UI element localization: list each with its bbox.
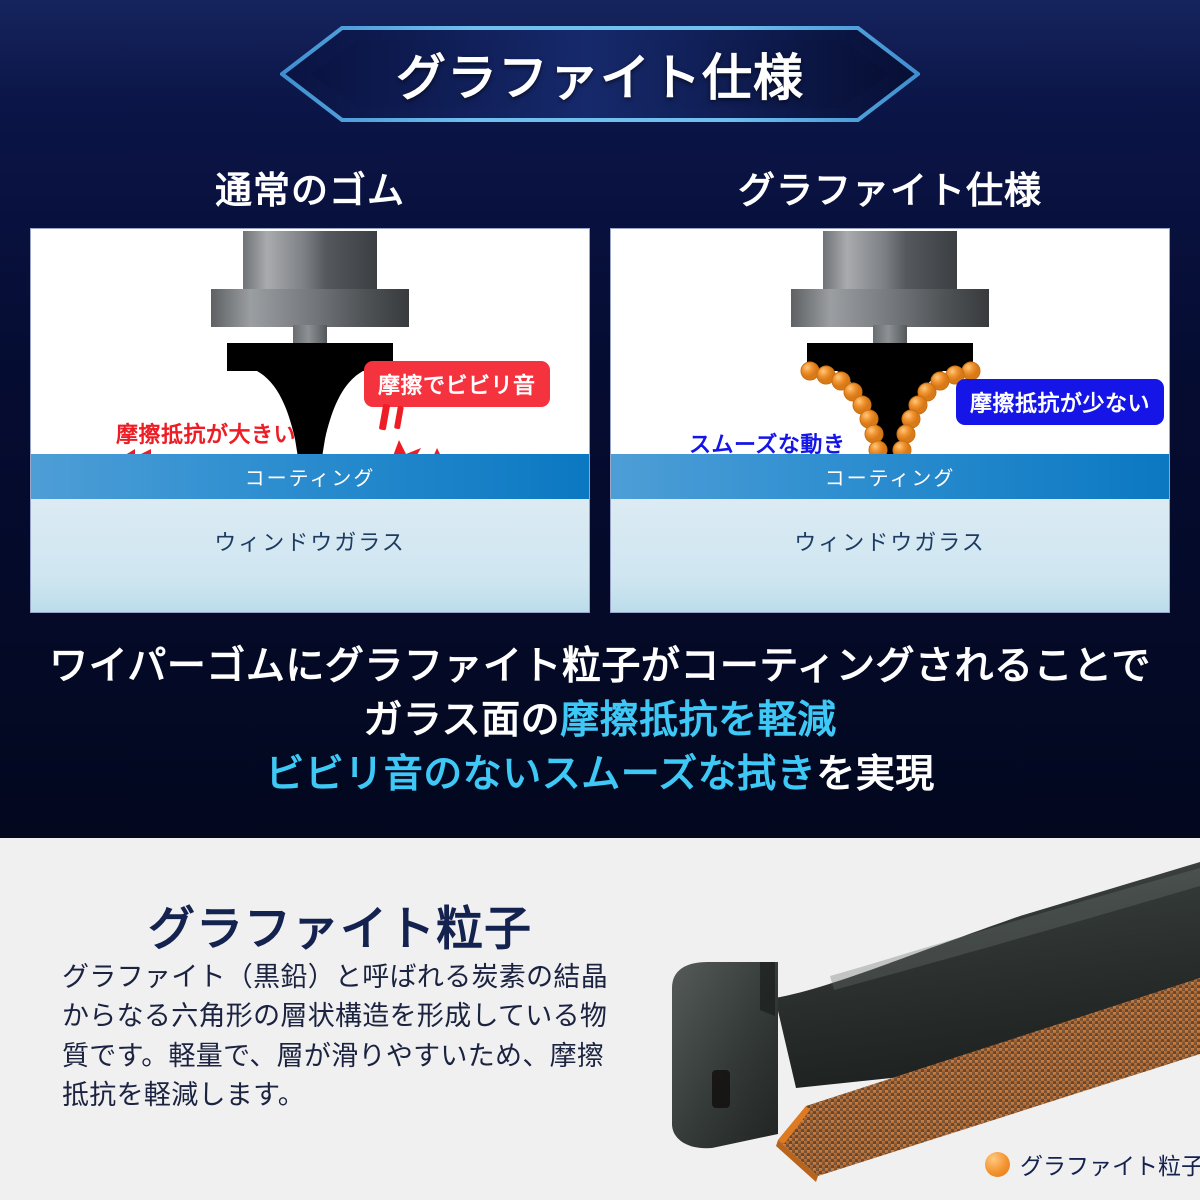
summary-line-2: ガラス面の摩擦抵抗を軽減 bbox=[0, 694, 1200, 748]
summary-line-3-post: を実現 bbox=[816, 753, 935, 796]
top-section: グラファイト仕様 通常のゴム グラファイト仕様 bbox=[0, 0, 1200, 838]
infographic-root: グラファイト仕様 通常のゴム グラファイト仕様 bbox=[0, 0, 1200, 1200]
graphite-legend-label: グラファイト粒子 bbox=[1020, 1147, 1200, 1181]
graphite-legend: グラファイト粒子 bbox=[985, 1147, 1200, 1181]
friction-noise-badge: 摩擦でビビリ音 bbox=[364, 361, 550, 407]
coating-layer-label-right: コーティング bbox=[611, 454, 1169, 499]
summary-line-2-highlight: 摩擦抵抗を軽減 bbox=[560, 699, 837, 742]
graphite-section-title: グラファイト粒子 bbox=[148, 890, 532, 959]
high-friction-label: 摩擦抵抗が大きい bbox=[116, 417, 296, 449]
diagram-panel-normal: 摩擦でビビリ音 摩擦抵抗が大きい bbox=[30, 228, 590, 613]
glass-layer-label-right: ウィンドウガラス bbox=[611, 499, 1169, 612]
glass-layer-label-left: ウィンドウガラス bbox=[31, 499, 589, 612]
summary-line-1: ワイパーゴムにグラファイト粒子がコーティングされることで bbox=[0, 640, 1200, 694]
summary-line-2-pre: ガラス面の bbox=[363, 699, 560, 742]
graphite-legend-dot-icon bbox=[985, 1152, 1010, 1177]
graphite-section-body: グラファイト（黒鉛）と呼ばれる炭素の結晶からなる六角形の層状構造を形成している物… bbox=[62, 958, 628, 1116]
banner-title: グラファイト仕様 bbox=[280, 24, 920, 124]
low-friction-badge: 摩擦抵抗が少ない bbox=[956, 379, 1164, 425]
coating-layer-label-left: コーティング bbox=[31, 454, 589, 499]
panel-heading-graphite: グラファイト仕様 bbox=[610, 160, 1170, 214]
summary-line-3: ビビリ音のないスムーズな拭きを実現 bbox=[0, 748, 1200, 802]
wiper-blade-photo-icon bbox=[600, 838, 1200, 1200]
summary-line-3-highlight-2: スムーズな拭き bbox=[542, 753, 817, 796]
panel-heading-normal: 通常のゴム bbox=[30, 160, 590, 214]
summary-line-3-highlight-1: ビビリ音のない bbox=[265, 753, 542, 796]
summary-message: ワイパーゴムにグラファイト粒子がコーティングされることで ガラス面の摩擦抵抗を軽… bbox=[0, 640, 1200, 801]
title-banner: グラファイト仕様 bbox=[280, 24, 920, 124]
bottom-section: グラファイト粒子 グラファイト（黒鉛）と呼ばれる炭素の結晶からなる六角形の層状構… bbox=[0, 838, 1200, 1200]
diagram-panel-graphite: 摩擦抵抗が少ない スムーズな動き グラファイト粒子 コーティング ウィンドウガラ… bbox=[610, 228, 1170, 613]
product-photo bbox=[600, 838, 1200, 1200]
